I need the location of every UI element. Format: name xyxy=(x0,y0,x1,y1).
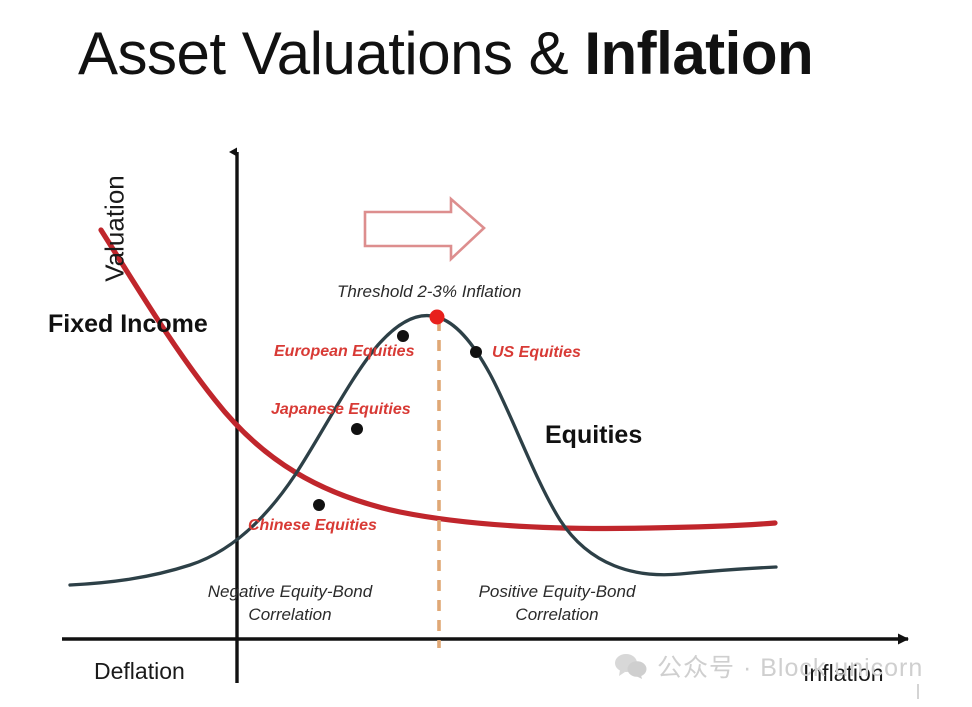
direction-arrow-icon xyxy=(365,199,484,259)
equities-curve xyxy=(70,316,776,585)
x-axis-left-label: Deflation xyxy=(94,658,185,685)
series-label-equities: Equities xyxy=(545,421,642,450)
asset-label-japanese-equities: Japanese Equities xyxy=(271,401,411,419)
marker-japanese-equities xyxy=(351,423,363,435)
asset-label-chinese-equities: Chinese Equities xyxy=(248,517,377,535)
x-axis-right-label: Inflation xyxy=(803,660,884,687)
slide-canvas: Asset Valuations & Inflation Val xyxy=(0,0,972,707)
marker-threshold-peak xyxy=(430,310,445,325)
asset-label-european-equities: European Equities xyxy=(274,343,414,361)
asset-label-us-equities: US Equities xyxy=(492,344,581,362)
correlation-annotation-positive: Positive Equity-Bond Correlation xyxy=(452,581,662,627)
marker-european-equities xyxy=(397,330,409,342)
marker-us-equities xyxy=(470,346,482,358)
watermark-tick xyxy=(917,684,919,699)
threshold-annotation: Threshold 2-3% Inflation xyxy=(337,282,521,302)
marker-chinese-equities xyxy=(313,499,325,511)
series-label-fixed-income: Fixed Income xyxy=(48,310,208,339)
correlation-annotation-negative: Negative Equity-Bond Correlation xyxy=(185,581,395,627)
